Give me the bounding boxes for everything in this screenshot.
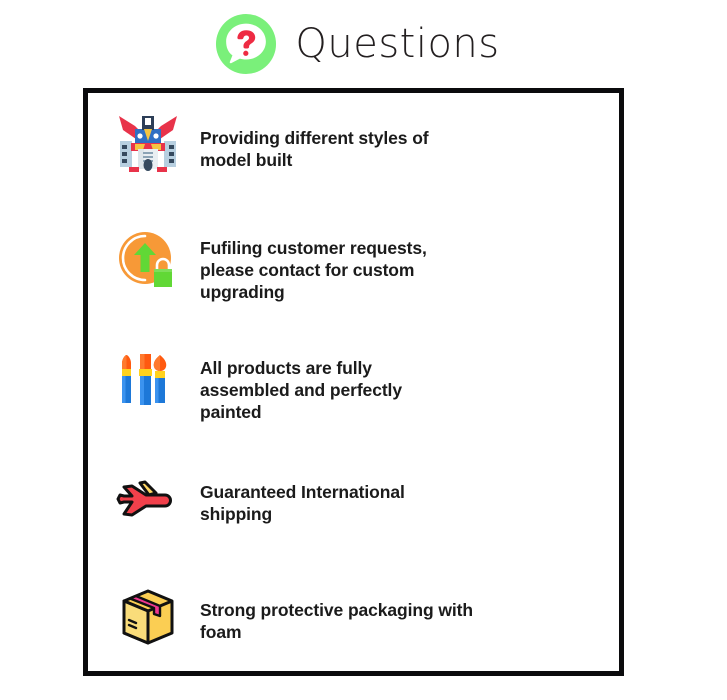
page-title: Questions (295, 24, 499, 64)
questions-list: Providing different styles of model buil… (88, 93, 619, 671)
list-item: All products are fully assembled and per… (116, 347, 586, 424)
robot-gundam-head-icon (116, 111, 180, 175)
question-speech-bubble-icon (215, 13, 277, 75)
page-header-inner: Questions (215, 13, 499, 75)
page-header: Questions (0, 0, 727, 88)
list-item: Providing different styles of model buil… (116, 111, 586, 175)
list-item-text: All products are fully assembled and per… (200, 347, 460, 424)
package-box-icon (116, 585, 180, 649)
list-item-text: Guaranteed International shipping (200, 467, 460, 525)
list-item-text: Fufiling customer requests, please conta… (200, 229, 460, 304)
upgrade-shopping-bag-icon (116, 229, 180, 293)
list-item: Guaranteed International shipping (116, 467, 586, 531)
list-item-text: Providing different styles of model buil… (200, 111, 460, 171)
paint-brushes-icon (116, 347, 180, 411)
questions-panel: Providing different styles of model buil… (83, 88, 624, 676)
list-item-text: Strong protective packaging with foam (200, 585, 500, 643)
list-item: Strong protective packaging with foam (116, 585, 586, 649)
airplane-icon (116, 467, 180, 531)
list-item: Fufiling customer requests, please conta… (116, 229, 586, 304)
